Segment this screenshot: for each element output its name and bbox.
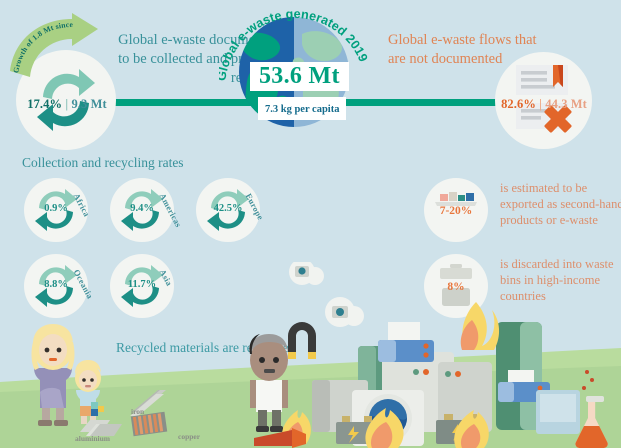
copper-icon <box>128 410 176 440</box>
magnet-icon <box>288 322 316 359</box>
recycled-share-value: 17.4% | 9.3 Mt <box>22 97 112 112</box>
per-capita-box: 7.3 kg per capita <box>258 97 346 120</box>
material-label-aluminium: aluminium <box>75 434 110 443</box>
rate-card-oceania: 8.8% Oceania <box>24 254 88 318</box>
rates-section-title: Collection and recycling rates <box>22 155 184 171</box>
material-label-copper: copper <box>178 432 200 441</box>
infographic-canvas: Growth of 1.8 Mt since 2014 17.4% | 9.3 … <box>0 0 621 448</box>
value-separator-right: | <box>539 97 542 111</box>
undocumented-share-value: 82.6% | 44.3 Mt <box>498 97 590 112</box>
total-ewaste-value: 53.6 Mt <box>259 63 340 89</box>
rate-card-africa: 0.9% Africa <box>24 178 88 242</box>
undocumented-mass: 44.3 Mt <box>545 97 587 111</box>
flow-export: 7-20% is estimated to be exported as sec… <box>424 178 621 248</box>
undocumented-percent: 82.6% <box>501 97 536 111</box>
svg-text:Growth of 1.8 Mt since 2014: Growth of 1.8 Mt since 2014 <box>6 13 73 74</box>
rate-card-europe: 42.5% Europe <box>196 178 260 242</box>
total-ewaste-box: 53.6 Mt <box>250 62 349 91</box>
child-figure <box>249 334 288 432</box>
flow-value: 7-20% <box>424 205 488 217</box>
growth-banner-text: Growth of 1.8 Mt since 2014 <box>6 13 73 74</box>
floating-device-bubble <box>289 262 324 285</box>
value-separator-left: | <box>65 97 68 111</box>
ewaste-pile-illustration <box>240 262 621 448</box>
recycled-mass: 9.3 Mt <box>71 97 106 111</box>
rate-card-asia: 11.7% Asia <box>110 254 174 318</box>
flow-description: is estimated to be exported as second-ha… <box>500 180 621 228</box>
growth-banner-label: Growth of 1.8 Mt since 2014 <box>6 13 102 91</box>
rate-card-americas: 9.4% Americas <box>110 178 174 242</box>
recycled-percent: 17.4% <box>27 97 62 111</box>
floating-device-bubble <box>325 297 364 327</box>
per-capita-value: 7.3 kg per capita <box>265 104 339 115</box>
